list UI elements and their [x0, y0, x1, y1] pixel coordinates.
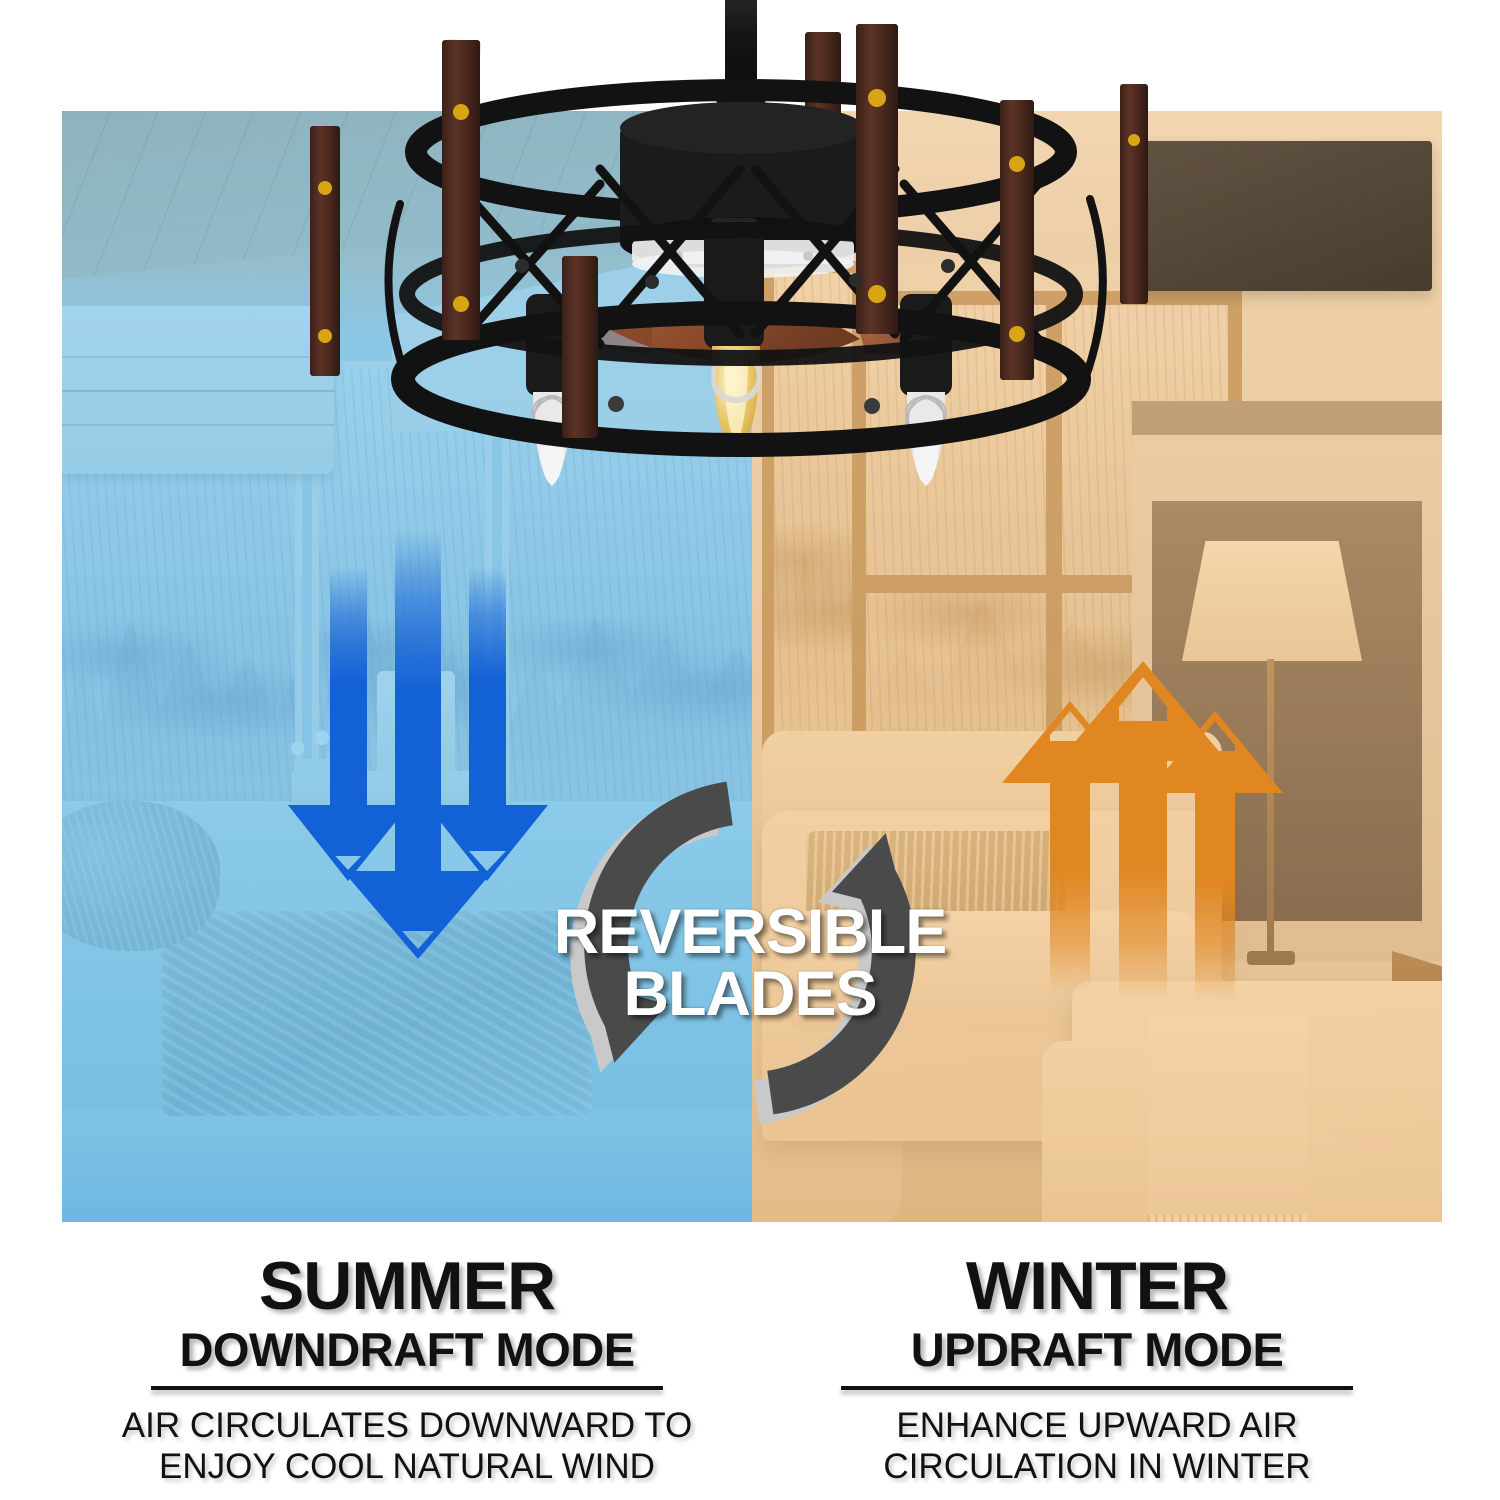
badge-line-2: BLADES: [546, 963, 954, 1025]
winter-caption: WINTER UPDRAFT MODE ENHANCE UPWARD AIR C…: [752, 1252, 1442, 1488]
winter-mode-title: UPDRAFT MODE: [752, 1326, 1442, 1373]
infographic-canvas: REVERSIBLE BLADES SUMMER DOWNDRAFT MODE …: [0, 0, 1500, 1500]
wood-slat-left: [442, 40, 480, 340]
wood-slat-far-right: [1000, 100, 1034, 380]
summer-divider-rule: [151, 1386, 663, 1390]
summer-description-line-2: ENJOY COOL NATURAL WIND: [62, 1446, 752, 1487]
winter-description-line-1: ENHANCE UPWARD AIR: [752, 1405, 1442, 1446]
wood-slat-center-left: [562, 256, 598, 438]
summer-description-line-1: AIR CIRCULATES DOWNWARD TO: [62, 1405, 752, 1446]
winter-description: ENHANCE UPWARD AIR CIRCULATION IN WINTER: [752, 1405, 1442, 1488]
reversible-blades-badge: REVERSIBLE BLADES: [546, 744, 954, 1164]
wood-slat-right: [856, 24, 898, 334]
summer-description: AIR CIRCULATES DOWNWARD TO ENJOY COOL NA…: [62, 1405, 752, 1488]
summer-mode-title: DOWNDRAFT MODE: [62, 1326, 752, 1373]
badge-text: REVERSIBLE BLADES: [546, 901, 954, 1026]
wood-slat-far-left: [310, 126, 340, 376]
summer-season-title: SUMMER: [62, 1252, 752, 1320]
winter-description-line-2: CIRCULATION IN WINTER: [752, 1446, 1442, 1487]
wood-slat-edge-right: [1120, 84, 1148, 304]
winter-season-title: WINTER: [752, 1252, 1442, 1320]
ceiling-fan-fixture: [300, 0, 1200, 534]
winter-divider-rule: [841, 1386, 1353, 1390]
badge-line-1: REVERSIBLE: [546, 901, 954, 963]
summer-caption: SUMMER DOWNDRAFT MODE AIR CIRCULATES DOW…: [62, 1252, 752, 1488]
